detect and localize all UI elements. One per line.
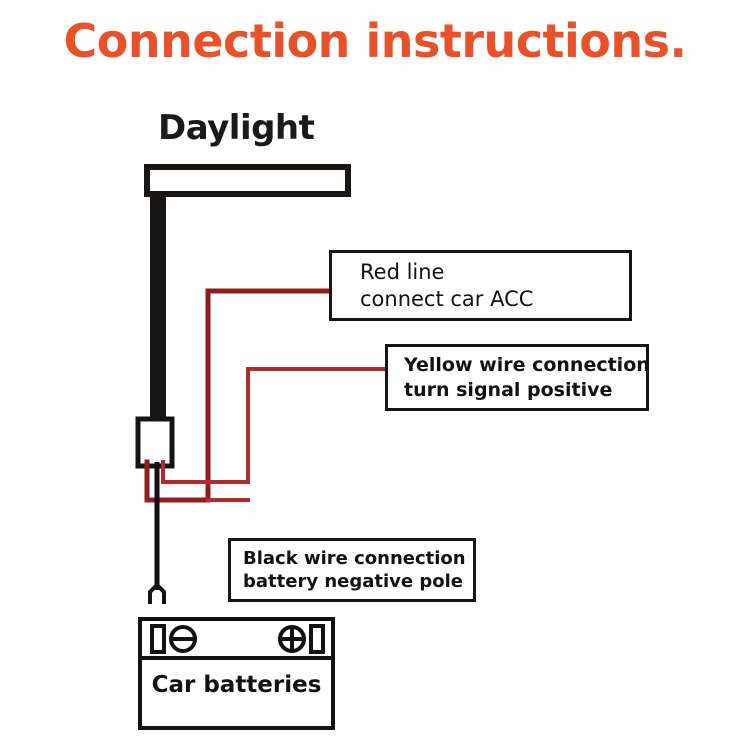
yellow-wire-callout: Yellow wire connection turn signal posit… <box>385 344 649 411</box>
yellow-wire-callout-line2: turn signal positive <box>404 378 646 402</box>
black-wire-callout-line1: Black wire connection <box>243 547 473 570</box>
daylight-lamp-bar <box>147 167 348 194</box>
battery-positive-post <box>311 626 323 652</box>
main-cable <box>150 194 166 420</box>
black-wire-callout: Black wire connection battery negative p… <box>228 538 476 602</box>
car-battery-label: Car batteries <box>140 672 333 698</box>
black-wire-callout-line2: battery negative pole <box>243 570 473 593</box>
diagram-canvas: Connection instructions. Daylight <box>0 0 750 750</box>
yellow-wire-to-turn-signal <box>163 369 387 482</box>
red-line-callout: Red line connect car ACC <box>329 250 632 321</box>
battery-negative-post <box>152 626 164 652</box>
red-line-callout-line1: Red line <box>360 259 629 286</box>
red-wire-to-acc <box>147 291 331 500</box>
yellow-wire-callout-line1: Yellow wire connection <box>404 353 646 377</box>
battery-negative-terminal-icon <box>171 627 195 651</box>
wire-connector-block <box>138 419 172 466</box>
red-line-callout-line2: connect car ACC <box>360 286 629 313</box>
battery-positive-terminal-icon <box>280 627 304 651</box>
